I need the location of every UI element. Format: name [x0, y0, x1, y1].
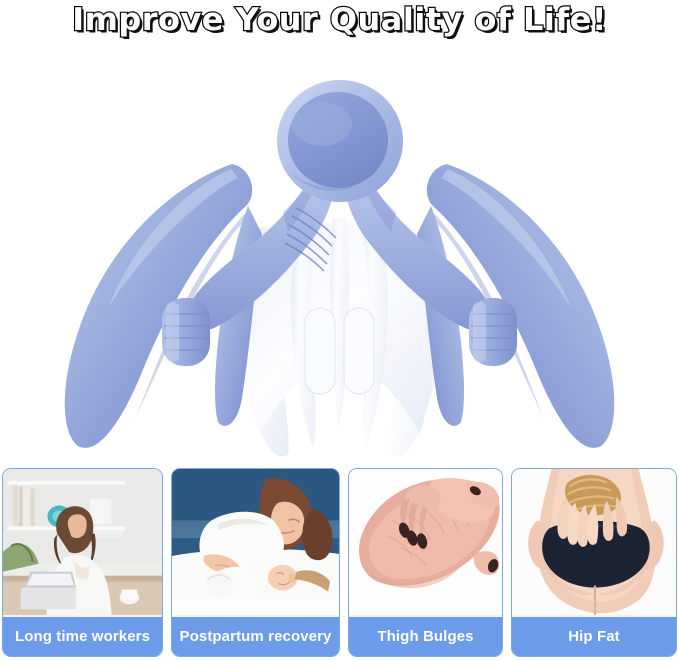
use-case-tile-hip-fat[interactable]: Hip Fat — [511, 468, 677, 657]
tile-label-postpartum-recovery: Postpartum recovery — [172, 617, 339, 656]
product-hero — [0, 36, 679, 460]
tile-label-hip-fat: Hip Fat — [512, 617, 676, 656]
hip-trainer-device-illustration — [0, 36, 679, 460]
use-case-tile-row: Long time workers — [0, 468, 679, 660]
center-pad-left — [305, 308, 335, 394]
use-case-tile-postpartum-recovery[interactable]: Postpartum recovery — [171, 468, 340, 657]
tile-label-thigh-bulges: Thigh Bulges — [349, 617, 502, 656]
use-case-tile-thigh-bulges[interactable]: Thigh Bulges — [348, 468, 503, 657]
photo-hips-rear-view — [512, 469, 676, 617]
center-pad-right — [344, 308, 374, 394]
use-case-tile-long-time-workers[interactable]: Long time workers — [2, 468, 163, 657]
photo-thigh-pinch — [349, 469, 502, 617]
page-title: Improve Your Quality of Life! — [72, 5, 607, 36]
photo-woman-at-desk — [3, 469, 162, 617]
left-roller — [162, 298, 210, 366]
tile-label-long-time-workers: Long time workers — [3, 617, 162, 656]
right-roller — [469, 298, 517, 366]
headline-banner: Improve Your Quality of Life! — [0, 0, 679, 40]
photo-mother-and-baby — [172, 469, 339, 617]
